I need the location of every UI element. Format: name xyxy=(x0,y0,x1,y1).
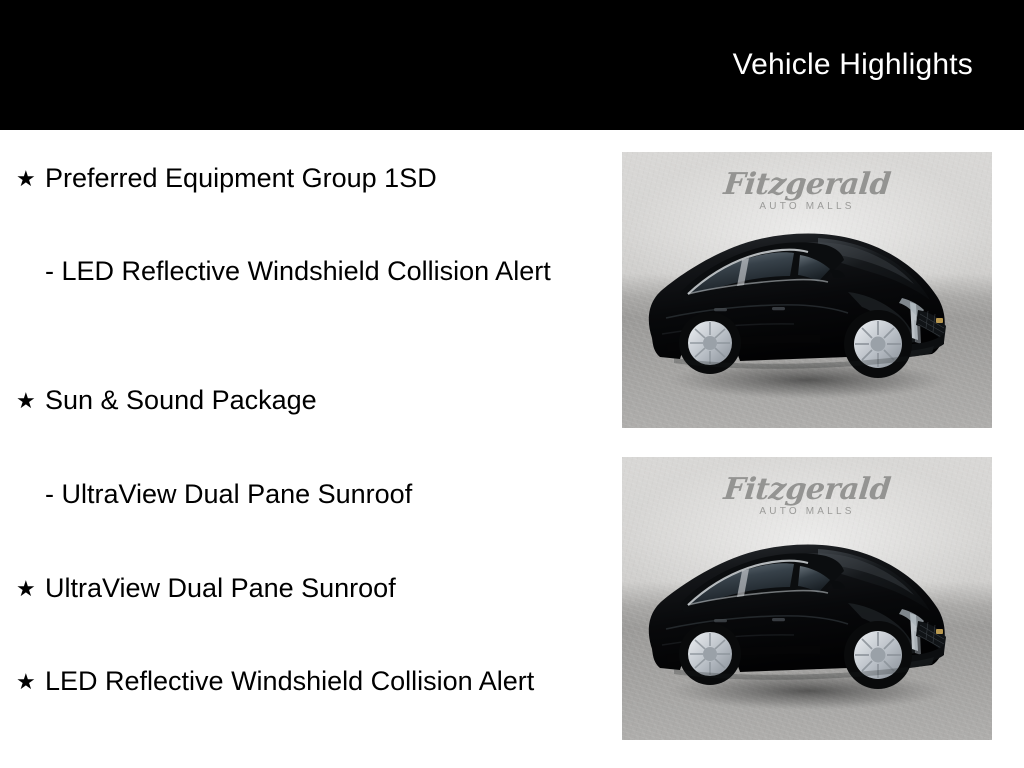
list-item: ★ Sun & Sound Package xyxy=(16,382,576,419)
header-bar: Vehicle Highlights xyxy=(0,0,1024,130)
star-bullet-icon: ★ xyxy=(16,382,45,419)
list-item-subtext: - LED Reflective Windshield Collision Al… xyxy=(45,253,565,289)
front-wheel xyxy=(844,310,912,378)
list-item-subtext: - UltraView Dual Pane Sunroof xyxy=(45,476,565,512)
list-item: ★ LED Reflective Windshield Collision Al… xyxy=(16,663,576,700)
star-bullet-icon: ★ xyxy=(16,570,45,607)
cadillac-ct5-car-illustration xyxy=(622,457,992,740)
star-bullet-icon: ★ xyxy=(16,663,45,700)
vehicle-photo[interactable]: Fitzgerald AUTO MALLS xyxy=(622,457,992,740)
vehicle-photo[interactable]: Fitzgerald AUTO MALLS xyxy=(622,152,992,428)
list-item: ★ UltraView Dual Pane Sunroof xyxy=(16,570,576,607)
star-bullet-icon: ★ xyxy=(16,160,45,197)
list-item-label: Preferred Equipment Group 1SD xyxy=(45,160,550,196)
front-wheel xyxy=(844,621,912,689)
cadillac-ct5-car-illustration xyxy=(622,152,992,428)
list-item-label: Sun & Sound Package xyxy=(45,382,550,418)
list-item: ★ Preferred Equipment Group 1SD xyxy=(16,160,576,197)
page-title: Vehicle Highlights xyxy=(733,48,973,82)
list-item-label: UltraView Dual Pane Sunroof xyxy=(45,570,550,606)
vehicle-highlights-list: ★ Preferred Equipment Group 1SD - LED Re… xyxy=(0,130,600,768)
list-item-label: LED Reflective Windshield Collision Aler… xyxy=(45,663,550,699)
